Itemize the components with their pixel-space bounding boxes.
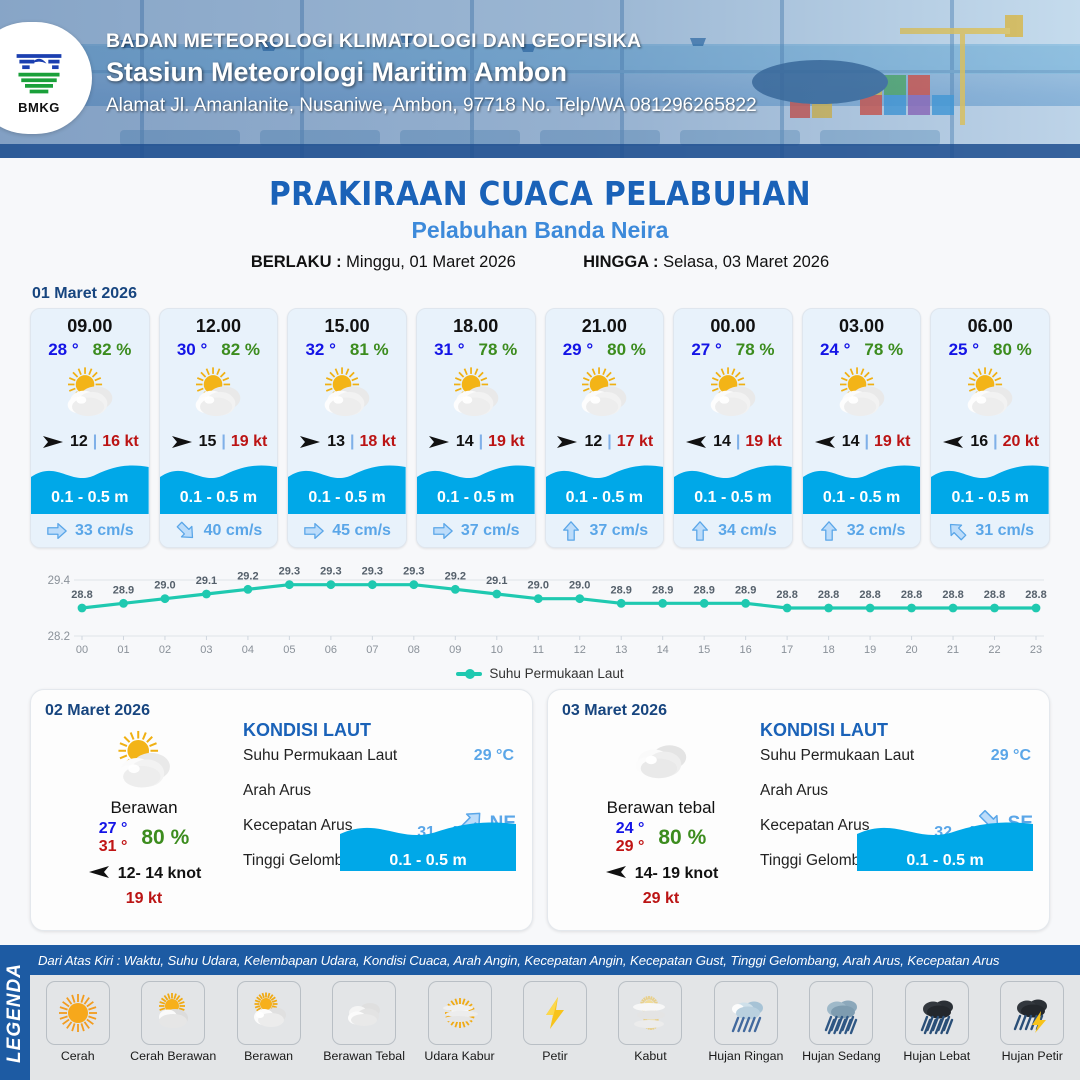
svg-text:06: 06: [325, 644, 337, 656]
panel-temp-hum: 27 ° 31 ° 80 %: [49, 820, 239, 856]
panel-date: 03 Maret 2026: [562, 702, 1035, 720]
card-separator: |: [736, 433, 740, 451]
legend-item-label: Cerah: [61, 1049, 95, 1063]
card-wind-speed: 14: [842, 433, 860, 451]
card-humidity: 80 %: [607, 340, 646, 360]
svg-text:00: 00: [76, 644, 88, 656]
card-humidity: 78 %: [864, 340, 903, 360]
forecast-card[interactable]: 09.00 28 ° 82 % 12 | 16 kt 0.1 - 0.5 m: [30, 308, 150, 548]
svg-text:08: 08: [408, 644, 420, 656]
svg-text:02: 02: [159, 644, 171, 656]
panel-sea-title: KONDISI LAUT: [243, 720, 520, 741]
card-gust: 19 kt: [231, 433, 267, 451]
svg-text:29.0: 29.0: [528, 580, 549, 592]
panel-row-current-dir: Arah Arus NE: [243, 782, 520, 817]
panel-humidity: 80 %: [141, 826, 189, 850]
current-direction-icon: [946, 520, 968, 542]
page-title-block: PRAKIRAAN CUACA PELABUHAN Pelabuhan Band…: [0, 174, 1080, 272]
card-wind-row: 15 | 19 kt: [160, 424, 278, 460]
moderate-rain-icon: [809, 981, 873, 1045]
forecast-card[interactable]: 12.00 30 ° 82 % 15 | 19 kt 0.1 - 0.5 m: [159, 308, 279, 548]
legend-item-label: Berawan Tebal: [323, 1049, 405, 1063]
card-temp-hum: 32 ° 81 %: [288, 340, 406, 360]
cloud-sun-icon: [237, 981, 301, 1045]
card-gust: 19 kt: [874, 433, 910, 451]
card-gust: 17 kt: [617, 433, 653, 451]
card-wind-row: 12 | 16 kt: [31, 424, 149, 460]
panel-sea-title: KONDISI LAUT: [760, 720, 1037, 741]
forecast-card[interactable]: 03.00 24 ° 78 % 14 | 19 kt 0.1 - 0.5 m: [802, 308, 922, 548]
berawan-icon: [160, 362, 278, 424]
legend-item-row: Cerah Cerah Berawan Berawan Berawan Teba…: [30, 975, 1080, 1080]
berawan-icon: [931, 362, 1049, 424]
current-direction-icon: [818, 520, 840, 542]
panel-temp-min: 24 °: [616, 820, 645, 838]
card-wave-zone: 0.1 - 0.5 m: [546, 458, 664, 514]
forecast-card[interactable]: 21.00 29 ° 80 % 12 | 17 kt 0.1 - 0.5 m: [545, 308, 665, 548]
card-wave-zone: 0.1 - 0.5 m: [288, 458, 406, 514]
svg-text:29.3: 29.3: [403, 566, 424, 578]
svg-text:05: 05: [283, 644, 295, 656]
current-direction-icon: [175, 520, 197, 542]
station-address: Alamat Jl. Amanlanite, Nusaniwe, Ambon, …: [106, 95, 757, 117]
svg-text:23: 23: [1030, 644, 1042, 656]
svg-text:28.8: 28.8: [984, 589, 1005, 601]
card-separator: |: [221, 433, 225, 451]
forecast-date-label: 01 Maret 2026: [32, 285, 1080, 303]
forecast-card-row: 09.00 28 ° 82 % 12 | 16 kt 0.1 - 0.5 m: [0, 308, 1080, 548]
card-temperature: 32 °: [305, 340, 335, 360]
panel-sst-value: 29 °C: [474, 747, 514, 765]
card-wind-row: 14 | 19 kt: [674, 424, 792, 460]
card-time: 18.00: [417, 309, 535, 337]
daily-summary-panel[interactable]: 02 Maret 2026 Berawan 27 ° 31 ° 80 % 12-…: [30, 689, 533, 931]
current-direction-icon: [432, 520, 454, 542]
card-wind-row: 14 | 19 kt: [417, 424, 535, 460]
header-bottom-band: [0, 144, 1080, 158]
legend-item[interactable]: Petir: [507, 975, 602, 1080]
card-gust: 16 kt: [102, 433, 138, 451]
card-gust: 19 kt: [488, 433, 524, 451]
card-time: 15.00: [288, 309, 406, 337]
panel-wave-value: 0.1 - 0.5 m: [340, 852, 516, 870]
panel-temp-min: 27 °: [99, 820, 128, 838]
wind-direction-icon: [41, 432, 65, 452]
card-current-speed: 32 cm/s: [847, 522, 906, 540]
svg-text:14: 14: [657, 644, 669, 656]
panel-sst-label: Suhu Permukaan Laut: [243, 747, 397, 764]
card-wind-speed: 16: [970, 433, 988, 451]
card-separator: |: [864, 433, 868, 451]
page-title: PRAKIRAAN CUACA PELABUHAN: [0, 174, 1080, 213]
legend-item[interactable]: Cerah Berawan: [125, 975, 220, 1080]
sun-icon: [46, 981, 110, 1045]
card-humidity: 82 %: [221, 340, 260, 360]
legend-side-title: LEGENDA: [0, 945, 30, 1080]
sst-chart: 29.428.200010203040506070809101112131415…: [30, 562, 1050, 662]
wind-direction-icon: [298, 432, 322, 452]
legend-body: Dari Atas Kiri : Waktu, Suhu Udara, Kele…: [30, 945, 1080, 1080]
svg-text:20: 20: [905, 644, 917, 656]
legend-label: Suhu Permukaan Laut: [489, 666, 623, 681]
card-temperature: 25 °: [949, 340, 979, 360]
card-wave-height: 0.1 - 0.5 m: [674, 489, 792, 507]
svg-text:29.2: 29.2: [237, 570, 258, 582]
panel-wind-row: 12- 14 knot: [49, 862, 239, 887]
svg-text:15: 15: [698, 644, 710, 656]
berawan-tebal-icon: [566, 726, 756, 794]
svg-text:28.9: 28.9: [693, 584, 714, 596]
card-wave-zone: 0.1 - 0.5 m: [160, 458, 278, 514]
card-separator: |: [93, 433, 97, 451]
card-wind-speed: 13: [327, 433, 345, 451]
panel-current-dir-label: Arah Arus: [760, 782, 828, 799]
card-wave-height: 0.1 - 0.5 m: [546, 489, 664, 507]
svg-text:12: 12: [574, 644, 586, 656]
card-humidity: 78 %: [479, 340, 518, 360]
svg-text:29.3: 29.3: [320, 566, 341, 578]
bmkg-logo-icon: [11, 41, 67, 99]
panel-current-dir-label: Arah Arus: [243, 782, 311, 799]
panel-row-current-dir: Arah Arus SE: [760, 782, 1037, 817]
berawan-icon: [803, 362, 921, 424]
card-wave-zone: 0.1 - 0.5 m: [31, 458, 149, 514]
berawan-icon: [546, 362, 664, 424]
legend-item[interactable]: Kabut: [603, 975, 698, 1080]
legend-item[interactable]: Cerah: [30, 975, 125, 1080]
panel-current-speed-label: Kecepatan Arus: [760, 817, 869, 834]
card-humidity: 81 %: [350, 340, 389, 360]
forecast-card[interactable]: 18.00 31 ° 78 % 14 | 19 kt 0.1 - 0.5 m: [416, 308, 536, 548]
svg-text:28.8: 28.8: [859, 589, 880, 601]
legend-item-label: Petir: [542, 1049, 567, 1063]
sst-chart-legend: Suhu Permukaan Laut: [0, 666, 1080, 681]
svg-text:29.1: 29.1: [196, 575, 217, 587]
card-temp-hum: 29 ° 80 %: [546, 340, 664, 360]
card-temperature: 30 °: [177, 340, 207, 360]
card-humidity: 82 %: [93, 340, 132, 360]
card-time: 12.00: [160, 309, 278, 337]
svg-text:11: 11: [533, 644, 544, 656]
svg-text:22: 22: [988, 644, 1000, 656]
berawan-icon: [417, 362, 535, 424]
legend-item-label: Cerah Berawan: [130, 1049, 216, 1063]
panel-wave-graphic: 0.1 - 0.5 m: [340, 815, 516, 879]
legend-item-label: Udara Kabur: [424, 1049, 494, 1063]
forecast-card[interactable]: 06.00 25 ° 80 % 16 | 20 kt 0.1 - 0.5 m: [930, 308, 1050, 548]
card-temperature: 24 °: [820, 340, 850, 360]
legend-line-marker-icon: [456, 672, 482, 676]
card-current-row: 32 cm/s: [803, 514, 921, 547]
card-wind-speed: 15: [199, 433, 217, 451]
panel-left-block: Berawan 27 ° 31 ° 80 % 12- 14 knot 19 kt: [49, 726, 239, 908]
card-wind-speed: 12: [584, 433, 602, 451]
daily-summary-panel[interactable]: 03 Maret 2026 Berawan tebal 24 ° 29 ° 80…: [547, 689, 1050, 931]
svg-text:09: 09: [449, 644, 461, 656]
legend-item-label: Kabut: [634, 1049, 666, 1063]
header-text-block: BADAN METEOROLOGI KLIMATOLOGI DAN GEOFIS…: [106, 30, 757, 117]
sst-chart-svg: 29.428.200010203040506070809101112131415…: [30, 562, 1050, 662]
panel-row-sst: Suhu Permukaan Laut 29 °C: [243, 747, 520, 782]
legend-item[interactable]: Berawan: [221, 975, 316, 1080]
card-current-speed: 33 cm/s: [75, 522, 134, 540]
svg-text:28.9: 28.9: [611, 584, 632, 596]
card-wave-height: 0.1 - 0.5 m: [288, 489, 406, 507]
card-time: 03.00: [803, 309, 921, 337]
panel-gust: 29 kt: [566, 890, 756, 908]
svg-text:28.9: 28.9: [652, 584, 673, 596]
panel-condition: Berawan: [49, 798, 239, 818]
card-temp-hum: 31 ° 78 %: [417, 340, 535, 360]
berawan-icon: [49, 726, 239, 794]
card-wind-row: 14 | 19 kt: [803, 424, 921, 460]
card-wind-row: 12 | 17 kt: [546, 424, 664, 460]
light-rain-icon: [714, 981, 778, 1045]
card-temperature: 27 °: [691, 340, 721, 360]
panel-current-speed-label: Kecepatan Arus: [243, 817, 352, 834]
svg-text:28.8: 28.8: [901, 589, 922, 601]
card-temperature: 29 °: [563, 340, 593, 360]
svg-text:03: 03: [200, 644, 212, 656]
station-name: Stasiun Meteorologi Maritim Ambon: [106, 57, 757, 88]
heavy-rain-icon: [905, 981, 969, 1045]
card-wave-height: 0.1 - 0.5 m: [803, 489, 921, 507]
card-wave-zone: 0.1 - 0.5 m: [417, 458, 535, 514]
legend-note: Dari Atas Kiri : Waktu, Suhu Udara, Kele…: [30, 945, 1080, 968]
card-current-row: 45 cm/s: [288, 514, 406, 547]
wind-direction-icon: [941, 432, 965, 452]
card-wave-height: 0.1 - 0.5 m: [31, 489, 149, 507]
card-temp-hum: 28 ° 82 %: [31, 340, 149, 360]
svg-text:28.8: 28.8: [818, 589, 839, 601]
berawan-icon: [288, 362, 406, 424]
card-separator: |: [350, 433, 354, 451]
svg-text:10: 10: [491, 644, 503, 656]
panel-wind-range: 12- 14 knot: [118, 865, 202, 883]
wind-direction-icon: [604, 862, 628, 887]
panel-sst-value: 29 °C: [991, 747, 1031, 765]
svg-text:28.9: 28.9: [113, 584, 134, 596]
card-current-row: 37 cm/s: [546, 514, 664, 547]
card-current-speed: 40 cm/s: [204, 522, 263, 540]
svg-text:16: 16: [740, 644, 752, 656]
wind-direction-icon: [813, 432, 837, 452]
svg-text:28.8: 28.8: [1025, 589, 1046, 601]
card-wave-zone: 0.1 - 0.5 m: [803, 458, 921, 514]
haze-icon: [428, 981, 492, 1045]
validity-row: BERLAKU : Minggu, 01 Maret 2026 HINGGA :…: [0, 253, 1080, 272]
legend-item[interactable]: Hujan Petir: [985, 975, 1080, 1080]
card-wave-height: 0.1 - 0.5 m: [160, 489, 278, 507]
card-current-speed: 37 cm/s: [461, 522, 520, 540]
legend-item-label: Hujan Petir: [1002, 1049, 1063, 1063]
current-direction-icon: [46, 520, 68, 542]
panel-sst-label: Suhu Permukaan Laut: [760, 747, 914, 764]
thunderstorm-icon: [1000, 981, 1064, 1045]
svg-text:07: 07: [366, 644, 378, 656]
agency-name: BADAN METEOROLOGI KLIMATOLOGI DAN GEOFIS…: [106, 30, 757, 53]
legend-item-label: Hujan Sedang: [802, 1049, 881, 1063]
card-current-row: 31 cm/s: [931, 514, 1049, 547]
forecast-card[interactable]: 00.00 27 ° 78 % 14 | 19 kt 0.1 - 0.5 m: [673, 308, 793, 548]
svg-text:13: 13: [615, 644, 627, 656]
card-current-speed: 45 cm/s: [332, 522, 391, 540]
card-separator: |: [479, 433, 483, 451]
card-temperature: 28 °: [48, 340, 78, 360]
card-separator: |: [993, 433, 997, 451]
svg-text:28.8: 28.8: [71, 589, 92, 601]
card-wave-height: 0.1 - 0.5 m: [931, 489, 1049, 507]
card-temp-hum: 25 ° 80 %: [931, 340, 1049, 360]
wind-direction-icon: [684, 432, 708, 452]
panel-humidity: 80 %: [658, 826, 706, 850]
panel-row-sst: Suhu Permukaan Laut 29 °C: [760, 747, 1037, 782]
legend-section: LEGENDA Dari Atas Kiri : Waktu, Suhu Uda…: [0, 945, 1080, 1080]
svg-text:29.2: 29.2: [445, 570, 466, 582]
panel-temp-max: 29 °: [616, 838, 645, 856]
card-temp-hum: 27 ° 78 %: [674, 340, 792, 360]
fog-icon: [618, 981, 682, 1045]
svg-text:28.2: 28.2: [48, 631, 70, 643]
card-wind-speed: 12: [70, 433, 88, 451]
card-current-speed: 34 cm/s: [718, 522, 777, 540]
card-current-speed: 37 cm/s: [589, 522, 648, 540]
card-time: 06.00: [931, 309, 1049, 337]
svg-text:21: 21: [947, 644, 959, 656]
svg-text:29.4: 29.4: [48, 575, 71, 587]
current-direction-icon: [689, 520, 711, 542]
svg-text:28.9: 28.9: [735, 584, 756, 596]
page-subtitle: Pelabuhan Banda Neira: [0, 217, 1080, 244]
svg-text:01: 01: [117, 644, 129, 656]
hingga-label: HINGGA :: [583, 253, 658, 271]
svg-text:29.0: 29.0: [154, 580, 175, 592]
svg-text:28.8: 28.8: [776, 589, 797, 601]
svg-text:29.0: 29.0: [569, 580, 590, 592]
berawan-icon: [674, 362, 792, 424]
panel-temp-hum: 24 ° 29 ° 80 %: [566, 820, 756, 856]
panel-date: 02 Maret 2026: [45, 702, 518, 720]
card-current-speed: 31 cm/s: [975, 522, 1034, 540]
card-humidity: 80 %: [993, 340, 1032, 360]
card-wave-zone: 0.1 - 0.5 m: [674, 458, 792, 514]
legend-item-label: Hujan Lebat: [903, 1049, 970, 1063]
svg-text:19: 19: [864, 644, 876, 656]
wind-direction-icon: [170, 432, 194, 452]
card-wind-speed: 14: [713, 433, 731, 451]
card-humidity: 78 %: [736, 340, 775, 360]
berawan-icon: [31, 362, 149, 424]
panel-sea-block: KONDISI LAUT Suhu Permukaan Laut 29 °C A…: [243, 720, 520, 887]
panel-sea-block: KONDISI LAUT Suhu Permukaan Laut 29 °C A…: [760, 720, 1037, 887]
card-wind-row: 16 | 20 kt: [931, 424, 1049, 460]
berlaku-label: BERLAKU :: [251, 253, 342, 271]
card-temp-hum: 30 ° 82 %: [160, 340, 278, 360]
card-time: 09.00: [31, 309, 149, 337]
card-gust: 18 kt: [359, 433, 395, 451]
bmkg-logo-text: BMKG: [18, 100, 60, 115]
card-gust: 19 kt: [745, 433, 781, 451]
current-direction-icon: [303, 520, 325, 542]
panel-wave-graphic: 0.1 - 0.5 m: [857, 815, 1033, 879]
card-current-row: 37 cm/s: [417, 514, 535, 547]
card-current-row: 34 cm/s: [674, 514, 792, 547]
legend-item[interactable]: Hujan Lebat: [889, 975, 984, 1080]
legend-item[interactable]: Hujan Ringan: [698, 975, 793, 1080]
svg-text:17: 17: [781, 644, 793, 656]
wind-direction-icon: [427, 432, 451, 452]
legend-item[interactable]: Udara Kabur: [412, 975, 507, 1080]
card-time: 21.00: [546, 309, 664, 337]
panel-condition: Berawan tebal: [566, 798, 756, 818]
card-wind-row: 13 | 18 kt: [288, 424, 406, 460]
svg-text:18: 18: [822, 644, 834, 656]
legend-item-label: Hujan Ringan: [708, 1049, 783, 1063]
card-wind-speed: 14: [456, 433, 474, 451]
panel-temp-max: 31 °: [99, 838, 128, 856]
svg-text:29.1: 29.1: [486, 575, 507, 587]
panel-wind-row: 14- 19 knot: [566, 862, 756, 887]
card-time: 00.00: [674, 309, 792, 337]
card-wave-height: 0.1 - 0.5 m: [417, 489, 535, 507]
svg-text:29.3: 29.3: [279, 566, 300, 578]
legend-item-label: Berawan: [244, 1049, 293, 1063]
card-separator: |: [607, 433, 611, 451]
lightning-icon: [523, 981, 587, 1045]
current-direction-icon: [560, 520, 582, 542]
wind-direction-icon: [87, 862, 111, 887]
card-current-row: 40 cm/s: [160, 514, 278, 547]
wind-direction-icon: [555, 432, 579, 452]
svg-text:29.3: 29.3: [362, 566, 383, 578]
legend-item[interactable]: Hujan Sedang: [794, 975, 889, 1080]
card-current-row: 33 cm/s: [31, 514, 149, 547]
panel-gust: 19 kt: [49, 890, 239, 908]
berlaku-value: Minggu, 01 Maret 2026: [346, 253, 516, 271]
legend-item[interactable]: Berawan Tebal: [316, 975, 411, 1080]
clouds-icon: [332, 981, 396, 1045]
card-temperature: 31 °: [434, 340, 464, 360]
panel-wind-range: 14- 19 knot: [635, 865, 719, 883]
forecast-card[interactable]: 15.00 32 ° 81 % 13 | 18 kt 0.1 - 0.5 m: [287, 308, 407, 548]
panel-wave-value: 0.1 - 0.5 m: [857, 852, 1033, 870]
sun-cloud-icon: [141, 981, 205, 1045]
svg-text:04: 04: [242, 644, 254, 656]
page-header: BMKG BADAN METEOROLOGI KLIMATOLOGI DAN G…: [0, 0, 1080, 158]
daily-summary-row: 02 Maret 2026 Berawan 27 ° 31 ° 80 % 12-…: [0, 681, 1080, 931]
hingga-value: Selasa, 03 Maret 2026: [663, 253, 829, 271]
card-gust: 20 kt: [1003, 433, 1039, 451]
panel-left-block: Berawan tebal 24 ° 29 ° 80 % 14- 19 knot…: [566, 726, 756, 908]
card-temp-hum: 24 ° 78 %: [803, 340, 921, 360]
card-wave-zone: 0.1 - 0.5 m: [931, 458, 1049, 514]
svg-text:28.8: 28.8: [942, 589, 963, 601]
